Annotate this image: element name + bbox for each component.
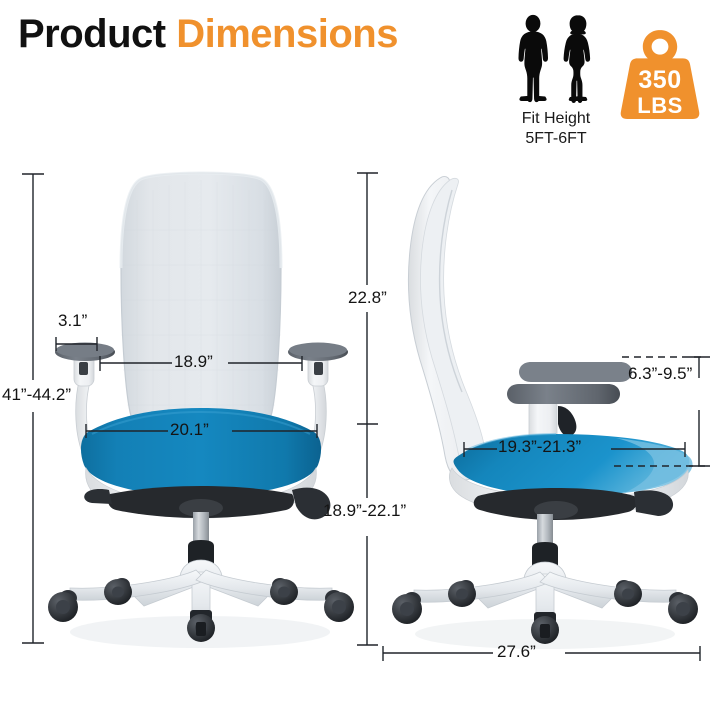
side-view-chair: [392, 176, 698, 649]
label-back-width: 18.9”: [174, 352, 213, 372]
armrest-left-adjust-button: [79, 362, 88, 375]
label-armrest-offset: 3.1”: [58, 311, 87, 331]
label-seat-depth: 19.3”-21.3”: [498, 437, 581, 457]
chair-diagram: [0, 0, 720, 720]
label-seat-height: 18.9”-22.1”: [323, 501, 406, 521]
label-back-height: 22.8”: [348, 288, 387, 308]
dimline-seat-height: [357, 424, 378, 645]
label-overall-height: 41”-44.2”: [2, 385, 71, 405]
lever-left: [84, 489, 112, 504]
label-armrest-height: 6.3”-9.5”: [628, 364, 692, 384]
armrest-side-bracket: [558, 406, 576, 436]
product-dimensions-infographic: Product Dimensions: [0, 0, 720, 720]
dimline-overall-height: [22, 174, 44, 643]
front-view-chair: [48, 173, 354, 648]
armrest-side-pad-upper: [519, 362, 632, 382]
armrest-right-adjust-button: [314, 362, 323, 375]
armrest-side-pad-lower: [507, 384, 620, 404]
backrest-side-mesh: [420, 178, 486, 474]
label-seat-width: 20.1”: [170, 420, 209, 440]
label-base-width: 27.6”: [497, 642, 536, 662]
